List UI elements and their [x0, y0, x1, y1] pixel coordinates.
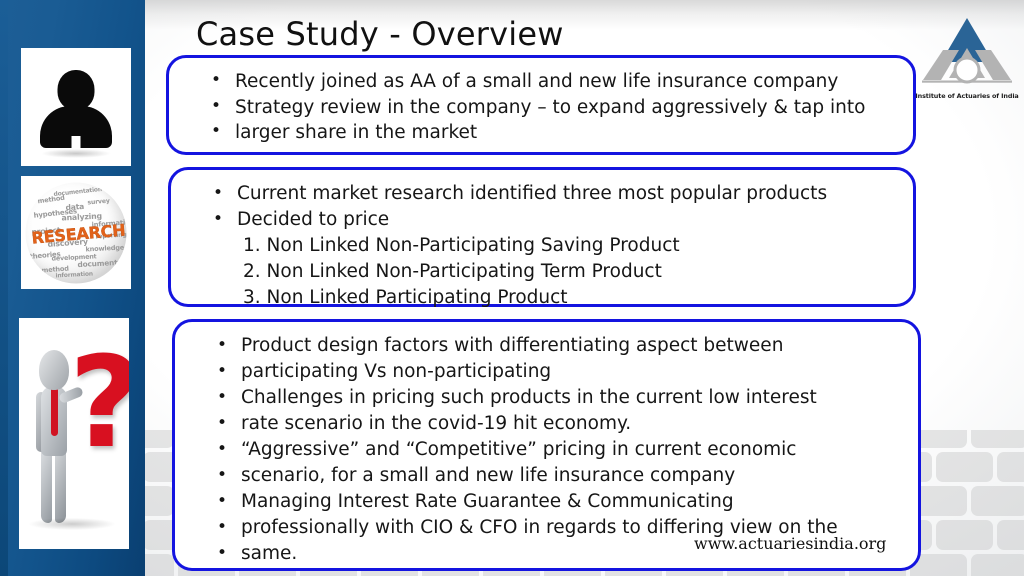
bullet-item: Strategy review in the company – to expa… [169, 95, 913, 121]
bullet-item: larger share in the market [169, 120, 913, 146]
bullet-item: 3. Non Linked Participating Product [171, 285, 913, 311]
background-tile [971, 554, 1024, 576]
bullet-item: Current market research identified three… [171, 181, 913, 207]
bullet-item: Challenges in pricing such products in t… [175, 385, 918, 411]
figure-head [39, 350, 69, 390]
background-tile [143, 554, 174, 576]
market-research-box: Current market research identified three… [168, 167, 916, 307]
figure-left-leg [41, 448, 52, 523]
slide-root: documentationmethoddatahypothesesanalyzi… [0, 0, 1024, 576]
left-image-sidebar: documentationmethoddatahypothesesanalyzi… [0, 0, 145, 576]
sphere-word: survey [87, 197, 110, 206]
page-title: Case Study - Overview [196, 14, 564, 54]
sphere-word: method [37, 193, 65, 205]
figure-right-leg [55, 448, 66, 523]
background-tile [997, 452, 1024, 482]
figure-red-tie [51, 388, 58, 436]
person-collar-gap [72, 136, 81, 148]
overview-bullet-list: Recently joined as AA of a small and new… [169, 69, 913, 146]
bullet-item: Decided to price [171, 207, 913, 233]
background-tile [997, 520, 1024, 550]
bullet-item: “Aggressive” and “Competitive” pricing i… [175, 437, 918, 463]
bullet-item: Managing Interest Rate Guarantee & Commu… [175, 489, 918, 515]
background-tile [971, 486, 1024, 516]
background-tile [971, 430, 1024, 448]
bullet-item: Recently joined as AA of a small and new… [169, 69, 913, 95]
research-word-sphere-image: documentationmethoddatahypothesesanalyzi… [21, 176, 131, 289]
sphere-highlight-word: RESEARCH [31, 220, 126, 247]
bullet-item: Product design factors with differentiat… [175, 333, 918, 359]
bullet-item: scenario, for a small and new life insur… [175, 463, 918, 489]
bullet-item: 2. Non Linked Non-Participating Term Pro… [171, 259, 913, 285]
background-tile [143, 486, 174, 516]
background-tile [936, 452, 993, 482]
person-silhouette-image [21, 48, 131, 166]
bullet-item: 1. Non Linked Non-Participating Saving P… [171, 233, 913, 259]
sphere-word: knowledge [85, 243, 124, 253]
research-sphere-shape: documentationmethoddatahypothesesanalyzi… [26, 182, 127, 283]
footer-website-url[interactable]: www.actuariesindia.org [694, 534, 886, 553]
overview-box: Recently joined as AA of a small and new… [166, 55, 916, 155]
institute-of-actuaries-of-india-logo: Institute of Actuaries of India [913, 6, 1021, 106]
person-ground-shadow [41, 149, 111, 158]
sphere-word: information [55, 270, 93, 279]
sidebar-edge-accent [0, 0, 8, 576]
logo-mark-icon [913, 6, 1021, 96]
red-question-mark-icon: ? [69, 340, 129, 466]
figure-ground-shadow [29, 518, 115, 530]
bullet-item: rate scenario in the covid-19 hit econom… [175, 411, 918, 437]
logo-caption: Institute of Actuaries of India [913, 92, 1021, 100]
challenges-bullet-list: Product design factors with differentiat… [175, 333, 918, 567]
market-research-bullet-list: Current market research identified three… [171, 181, 913, 311]
background-tile [143, 430, 174, 448]
background-tile [936, 520, 993, 550]
bullet-item: participating Vs non-participating [175, 359, 918, 385]
question-mark-figure-image: ? [19, 318, 129, 549]
person-head-shape [58, 70, 95, 110]
